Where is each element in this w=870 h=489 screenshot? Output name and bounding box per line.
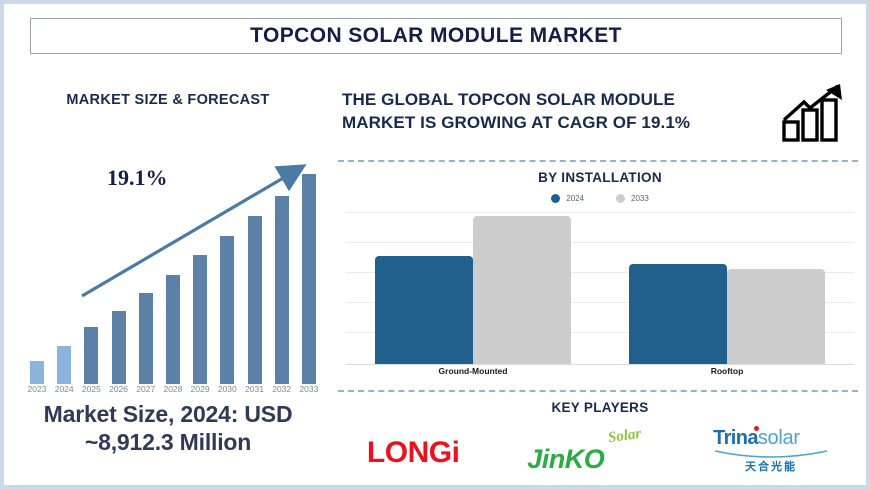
installation-axis-baseline (346, 364, 854, 365)
category-label-ground-mounted: Ground-Mounted (346, 366, 600, 376)
bar-rooftop-2024 (629, 264, 727, 364)
jinko-word: JinKO (527, 444, 604, 475)
legend-item-2024: 2024 (551, 194, 584, 203)
legend-item-2033: 2033 (616, 194, 649, 203)
key-players-logos: LONGi Solar JinKO Trinasolar 天合光能 (334, 424, 866, 482)
legend-label-2033: 2033 (631, 194, 649, 203)
year-label: 2023 (24, 384, 50, 394)
installation-category-labels: Ground-Mounted Rooftop (346, 366, 854, 376)
logo-longi[interactable]: LONGi (367, 425, 460, 481)
market-size-forecast-panel: MARKET SIZE & FORECAST 19.1% (12, 60, 324, 485)
year-label: 2030 (214, 384, 240, 394)
headline-text: THE GLOBAL TOPCON SOLAR MODULE MARKET IS… (342, 89, 690, 134)
logo-jinko-solar[interactable]: Solar JinKO (525, 425, 643, 481)
category-label-rooftop: Rooftop (600, 366, 854, 376)
bar-rooftop-2033 (727, 269, 825, 364)
year-label: 2025 (78, 384, 104, 394)
title-box: TOPCON SOLAR MODULE MARKET (30, 18, 842, 54)
forecast-year-axis: 2023 2024 2025 2026 2027 2028 2029 2030 … (22, 384, 324, 394)
bar-ground-mounted-2033 (473, 216, 571, 364)
logo-trina-solar[interactable]: Trinasolar 天合光能 (709, 425, 833, 481)
year-label: 2032 (269, 384, 295, 394)
growth-arrow-icon (22, 156, 324, 384)
installation-bar-chart (346, 212, 854, 364)
page-title: TOPCON SOLAR MODULE MARKET (250, 24, 622, 48)
year-label: 2029 (187, 384, 213, 394)
market-size-value: Market Size, 2024: USD ~8,912.3 Million (12, 400, 324, 456)
headline-row: THE GLOBAL TOPCON SOLAR MODULE MARKET IS… (342, 74, 858, 150)
year-label: 2027 (133, 384, 159, 394)
by-installation-title: BY INSTALLATION (334, 170, 866, 185)
year-label: 2031 (242, 384, 268, 394)
year-label: 2024 (51, 384, 77, 394)
year-label: 2028 (160, 384, 186, 394)
trina-chinese-name: 天合光能 (709, 458, 833, 474)
legend-label-2024: 2024 (566, 194, 584, 203)
headline-line-2: MARKET IS GROWING AT CAGR OF 19.1% (342, 112, 690, 135)
bar-ground-mounted-2024 (375, 256, 473, 364)
infographic-root: TOPCON SOLAR MODULE MARKET MARKET SIZE &… (0, 0, 870, 489)
jinko-solar-sub: Solar (607, 426, 642, 447)
longi-wordmark: LONGi (367, 436, 460, 470)
market-size-line-2: ~8,912.3 Million (12, 428, 324, 456)
growth-chart-icon (780, 82, 852, 142)
year-label: 2026 (106, 384, 132, 394)
jinko-wordmark: Solar JinKO (525, 428, 643, 478)
trina-wordmark: Trinasolar 天合光能 (709, 427, 833, 479)
legend-dot-2024 (551, 194, 560, 203)
bar-group-ground-mounted (346, 212, 600, 364)
forecast-bar-chart (22, 156, 324, 384)
left-panel-heading: MARKET SIZE & FORECAST (12, 92, 324, 108)
installation-legend: 2024 2033 (334, 194, 866, 203)
right-panel: THE GLOBAL TOPCON SOLAR MODULE MARKET IS… (334, 60, 866, 485)
bar-group-rooftop (600, 212, 854, 364)
divider-bottom (338, 390, 858, 392)
trina-word2: solar (758, 427, 800, 449)
installation-bars (346, 212, 854, 364)
divider-top (338, 160, 858, 162)
headline-line-1: THE GLOBAL TOPCON SOLAR MODULE (342, 89, 690, 112)
key-players-title: KEY PLAYERS (334, 400, 866, 415)
year-label: 2033 (296, 384, 322, 394)
market-size-line-1: Market Size, 2024: USD (12, 400, 324, 428)
trina-word1: Trina (713, 427, 758, 449)
legend-dot-2033 (616, 194, 625, 203)
